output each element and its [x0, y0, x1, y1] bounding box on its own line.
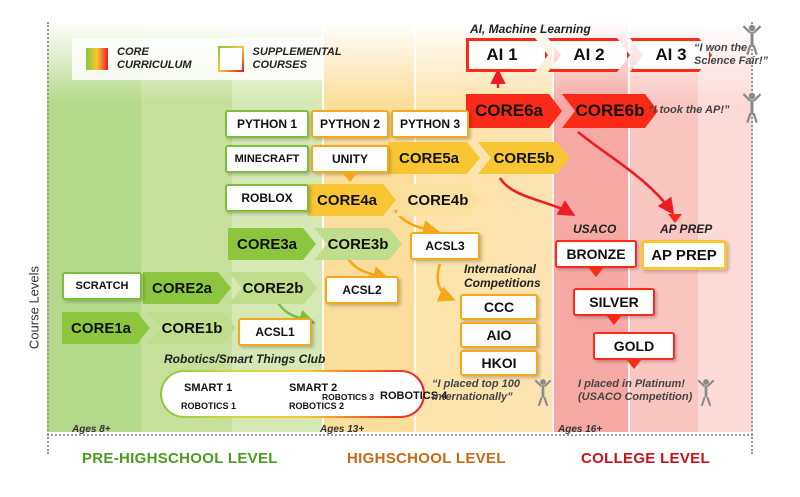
core1b-label: CORE1b: [162, 320, 223, 337]
core2a[interactable]: CORE2a: [143, 272, 231, 304]
legend-core-label: CORE CURRICULUM: [117, 46, 192, 72]
core5b[interactable]: CORE5b: [478, 142, 570, 174]
core2b-label: CORE2b: [243, 280, 304, 297]
unity-label: UNITY: [332, 153, 368, 165]
python-1-box[interactable]: PYTHON 1: [225, 110, 309, 138]
core4b[interactable]: CORE4b: [394, 184, 482, 216]
label-international-competitions: International Competitions: [464, 262, 541, 290]
robotics-club-pill: SMART 1 SMART 2 ROBOTICS 1 ROBOTICS 2 RO…: [160, 370, 425, 418]
unity-box[interactable]: UNITY: [311, 145, 389, 173]
silver-label: SILVER: [589, 295, 639, 309]
acsl2-box[interactable]: ACSL2: [325, 276, 399, 304]
acsl2-label: ACSL2: [342, 284, 381, 296]
core6a[interactable]: CORE6a: [466, 94, 562, 128]
core2b[interactable]: CORE2b: [229, 272, 317, 304]
acsl1-box[interactable]: ACSL1: [238, 318, 312, 346]
age-pre: Ages 8+: [72, 424, 111, 435]
core3b-label: CORE3b: [328, 236, 389, 253]
core1b[interactable]: CORE1b: [148, 312, 236, 344]
ai-box-1[interactable]: AI 1: [466, 38, 548, 72]
ai-box-1-label: AI 1: [486, 45, 517, 65]
core1a-label: CORE1a: [71, 320, 131, 337]
legend-supplemental-label: SUPPLEMENTAL COURSES: [253, 46, 342, 72]
quote-science-fair: “I won the Science Fair!”: [694, 42, 768, 68]
y-axis-label: Course Levels: [27, 248, 42, 368]
core5b-label: CORE5b: [494, 150, 555, 167]
gold-box[interactable]: GOLD: [593, 332, 675, 360]
bronze-box[interactable]: BRONZE: [555, 240, 637, 268]
quote-international: “I placed top 100 internationally”: [432, 378, 520, 404]
core5a[interactable]: CORE5a: [388, 142, 480, 174]
legend-supplemental-swatch: [218, 46, 244, 72]
acsl3-label: ACSL3: [425, 240, 464, 252]
ap-prep-box-label: AP PREP: [651, 248, 717, 263]
gold-pointer: [626, 359, 642, 369]
python-2-box[interactable]: PYTHON 2: [311, 110, 389, 138]
silver-box[interactable]: SILVER: [573, 288, 655, 316]
bronze-pointer: [588, 267, 604, 277]
ap-prep-pointer: [668, 214, 682, 223]
bronze-label: BRONZE: [566, 247, 625, 261]
robotics-3-label[interactable]: ROBOTICS 3: [322, 392, 374, 402]
axis-dashed-line: [47, 434, 753, 436]
label-ap-prep: AP PREP: [660, 222, 712, 236]
scratch-label: SCRATCH: [76, 281, 129, 292]
core1a[interactable]: CORE1a: [62, 312, 150, 344]
ap-prep-box[interactable]: AP PREP: [641, 240, 727, 270]
python-2-label: PYTHON 2: [320, 118, 380, 130]
core5a-label: CORE5a: [399, 150, 459, 167]
core4b-label: CORE4b: [408, 192, 469, 209]
robotics-1-label[interactable]: ROBOTICS 1: [181, 401, 236, 411]
silver-pointer: [606, 315, 622, 325]
level-highschool: HIGHSCHOOL LEVEL: [347, 450, 506, 467]
legend-core-swatch: [86, 48, 108, 70]
robotics-2-label[interactable]: ROBOTICS 2: [289, 401, 344, 411]
ccc-box[interactable]: CCC: [460, 294, 538, 320]
legend: CORE CURRICULUM SUPPLEMENTAL COURSES: [72, 38, 322, 80]
core3a[interactable]: CORE3a: [228, 228, 316, 260]
core6b[interactable]: CORE6b: [562, 94, 658, 128]
core3b[interactable]: CORE3b: [314, 228, 402, 260]
age-college: Ages 16+: [558, 424, 602, 435]
core4a[interactable]: CORE4a: [308, 184, 396, 216]
aio-box[interactable]: AIO: [460, 322, 538, 348]
core2a-label: CORE2a: [152, 280, 212, 297]
ccc-label: CCC: [484, 300, 514, 314]
hkoi-label: HKOI: [482, 356, 517, 370]
level-pre-highschool: PRE-HIGHSCHOOL LEVEL: [82, 450, 278, 467]
aio-label: AIO: [487, 328, 512, 342]
label-ai-section: AI, Machine Learning: [470, 22, 591, 36]
python-3-box[interactable]: PYTHON 3: [391, 110, 469, 138]
core6a-label: CORE6a: [475, 101, 543, 121]
quote-ap: “I took the AP!”: [648, 104, 729, 117]
python-3-label: PYTHON 3: [400, 118, 460, 130]
core3a-label: CORE3a: [237, 236, 297, 253]
roblox-label: ROBLOX: [241, 192, 292, 204]
age-high: Ages 13+: [320, 424, 364, 435]
curriculum-diagram: Course Levels CORE CURRICULUM SUPPLEMENT…: [0, 0, 800, 497]
core6b-label: CORE6b: [576, 101, 645, 121]
acsl1-label: ACSL1: [255, 326, 294, 338]
scratch-box[interactable]: SCRATCH: [62, 272, 142, 300]
roblox-box[interactable]: ROBLOX: [225, 184, 309, 212]
smart-1-label[interactable]: SMART 1: [184, 382, 232, 394]
acsl3-box[interactable]: ACSL3: [410, 232, 480, 260]
ai-box-2-label: AI 2: [573, 45, 604, 65]
hkoi-box[interactable]: HKOI: [460, 350, 538, 376]
ai-box-3-label: AI 3: [655, 45, 686, 65]
core4a-label: CORE4a: [317, 192, 377, 209]
quote-platinum: I placed in Platinum! (USACO Competition…: [578, 378, 692, 404]
unity-pointer: [342, 172, 358, 182]
gold-label: GOLD: [614, 339, 654, 353]
label-usaco: USACO: [573, 222, 616, 236]
python-1-label: PYTHON 1: [237, 118, 297, 130]
level-college: COLLEGE LEVEL: [581, 450, 710, 467]
minecraft-box[interactable]: MINECRAFT: [225, 145, 309, 173]
minecraft-label: MINECRAFT: [235, 154, 300, 165]
label-robotics-club: Robotics/Smart Things Club: [164, 352, 325, 366]
